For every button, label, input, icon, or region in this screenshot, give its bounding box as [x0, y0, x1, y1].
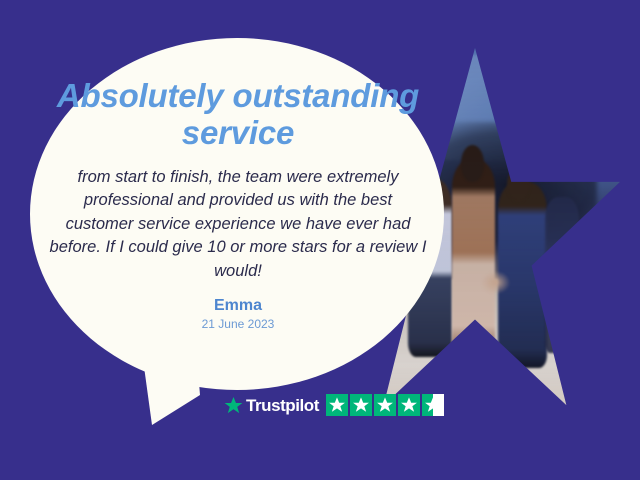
- review-body-text: from start to finish, the team were extr…: [38, 166, 438, 283]
- review-author-name: Emma: [38, 297, 438, 315]
- review-text-block: Absolutely outstanding service from star…: [38, 78, 438, 332]
- trustpilot-rating-bar[interactable]: Trustpilot: [224, 393, 444, 417]
- review-headline: Absolutely outstanding service: [38, 78, 438, 152]
- star-icon: [376, 397, 393, 414]
- trustpilot-star-rating[interactable]: [326, 394, 444, 416]
- rating-star-4[interactable]: [398, 394, 420, 416]
- trustpilot-wordmark: Trustpilot: [246, 397, 319, 414]
- star-icon: [400, 397, 417, 414]
- trustpilot-star-icon: [224, 396, 243, 415]
- rating-star-3[interactable]: [374, 394, 396, 416]
- review-graphic: Absolutely outstanding service from star…: [0, 0, 640, 480]
- star-icon: [328, 397, 345, 414]
- star-icon: [424, 397, 441, 414]
- rating-star-2[interactable]: [350, 394, 372, 416]
- rating-star-5-half[interactable]: [422, 394, 444, 416]
- trustpilot-logo[interactable]: Trustpilot: [224, 396, 319, 415]
- star-icon: [352, 397, 369, 414]
- review-date: 21 June 2023: [38, 316, 438, 333]
- review-attribution: Emma 21 June 2023: [38, 297, 438, 332]
- rating-star-1[interactable]: [326, 394, 348, 416]
